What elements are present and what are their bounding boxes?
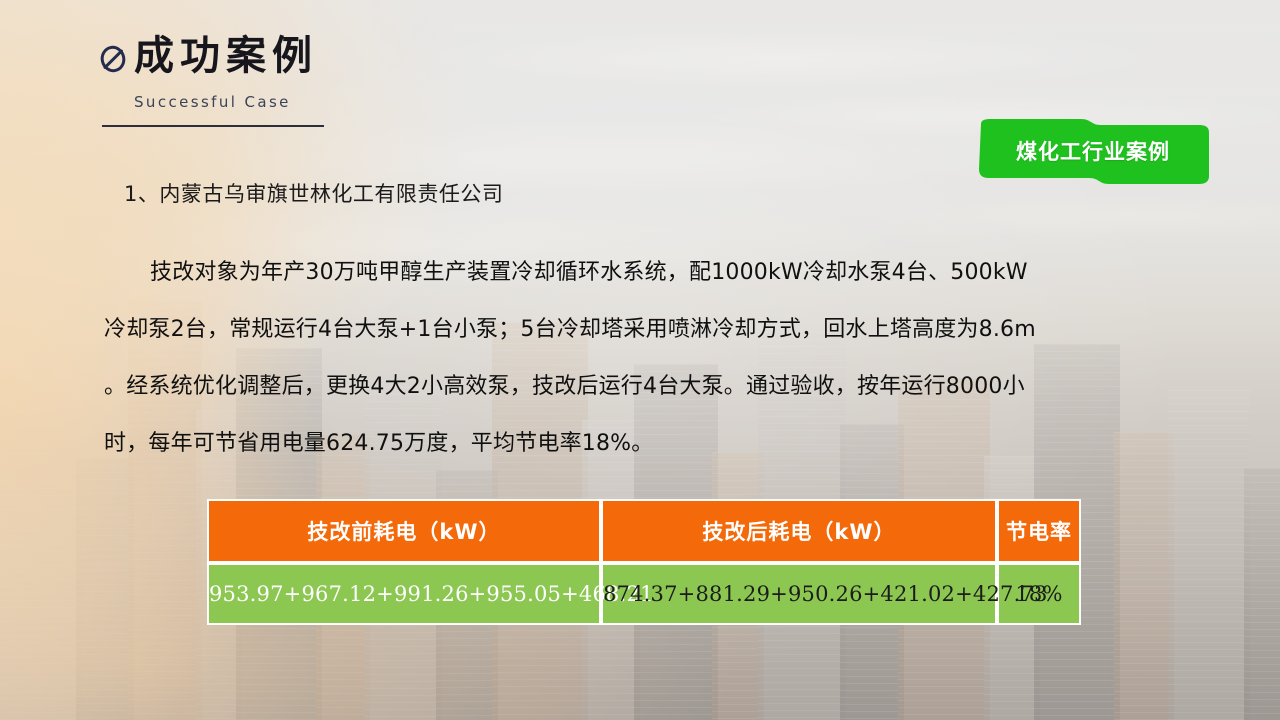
ribbon-label: 煤化工行业案例 (973, 136, 1213, 166)
table-row: 953.97+967.12+991.26+955.05+468.21 874.3… (207, 563, 1081, 625)
table-header-row: 技改前耗电（kW） 技改后耗电（kW） 节电率 (207, 499, 1081, 563)
company-name-heading: 1、内蒙古乌审旗世林化工有限责任公司 (124, 178, 503, 208)
cell-power-before: 953.97+967.12+991.26+955.05+468.21 (207, 563, 601, 625)
slide-header: 成功案例 Successful Case (98, 36, 324, 127)
energy-saving-results-table: 技改前耗电（kW） 技改后耗电（kW） 节电率 953.97+967.12+99… (207, 499, 1081, 625)
paragraph-line: 。经系统优化调整后，更换4大2小高效泵，技改后运行4台大泵。通过验收，按年运行8… (104, 358, 1190, 415)
title-row: 成功案例 (98, 36, 324, 76)
column-header-after: 技改后耗电（kW） (601, 499, 997, 563)
cell-power-after: 874.37+881.29+950.26+421.02+427.73 (601, 563, 997, 625)
case-description-paragraph: 技改对象为年产30万吨甲醇生产装置冷却循环水系统，配1000kW冷却水泵4台、5… (104, 244, 1190, 472)
slide-canvas: 成功案例 Successful Case 煤化工行业案例 1、内蒙古乌审旗世林化… (0, 0, 1280, 720)
title-underline-rule (102, 125, 324, 127)
industry-ribbon-banner: 煤化工行业案例 (973, 118, 1213, 190)
column-header-before: 技改前耗电（kW） (207, 499, 601, 563)
page-title: 成功案例 (134, 36, 318, 76)
page-subtitle: Successful Case (134, 93, 324, 111)
paragraph-line: 时，每年可节省用电量624.75万度，平均节电率18%。 (104, 415, 1190, 472)
paragraph-line: 技改对象为年产30万吨甲醇生产装置冷却循环水系统，配1000kW冷却水泵4台、5… (104, 244, 1190, 301)
paragraph-line: 冷却泵2台，常规运行4台大泵+1台小泵；5台冷却塔采用喷淋冷却方式，回水上塔高度… (104, 301, 1190, 358)
column-header-rate: 节电率 (997, 499, 1081, 563)
slash-circle-icon (98, 44, 128, 74)
